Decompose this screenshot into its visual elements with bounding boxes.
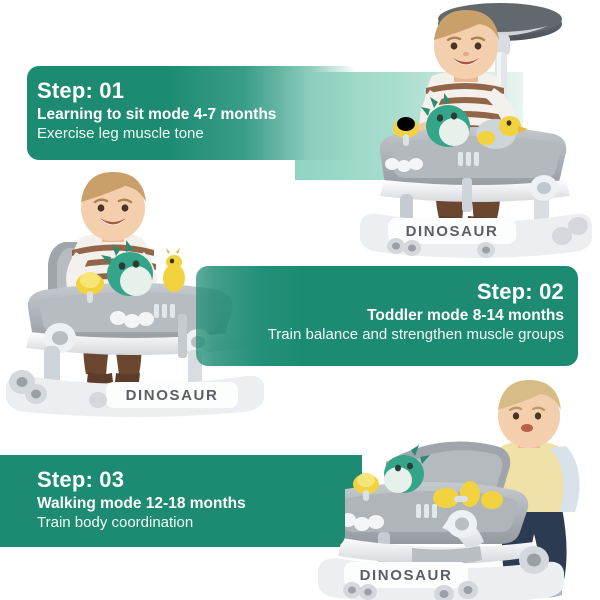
- product-image-walker-3: DINOSAUR: [326, 398, 600, 600]
- step-2-label: Step: 02: [196, 280, 564, 303]
- step-1-label: Step: 01: [37, 79, 357, 102]
- step-3-mode: Walking mode 12-18 months: [37, 494, 345, 513]
- step-3-desc: Train body coordination: [37, 514, 345, 533]
- step-2-desc: Train balance and strengthen muscle grou…: [196, 326, 564, 345]
- step-banner-2: Step: 02 Toddler mode 8-14 months Train …: [196, 266, 578, 366]
- step-2-mode: Toddler mode 8-14 months: [196, 306, 564, 325]
- svg-text:DINOSAUR: DINOSAUR: [406, 223, 499, 240]
- step-3-label: Step: 03: [37, 468, 345, 491]
- step-banner-3: Step: 03 Walking mode 12-18 months Train…: [27, 455, 345, 547]
- step-1-mode: Learning to sit mode 4-7 months: [37, 105, 357, 124]
- svg-text:DINOSAUR: DINOSAUR: [126, 387, 219, 404]
- giraffe-toy-2: [163, 248, 185, 292]
- walker-base-1: DINOSAUR: [360, 214, 592, 258]
- step-1-desc: Exercise leg muscle tone: [37, 125, 357, 144]
- step-banner-1: Step: 01 Learning to sit mode 4-7 months…: [27, 66, 357, 160]
- svg-text:DINOSAUR: DINOSAUR: [360, 567, 453, 584]
- product-image-walker-1: DINOSAUR: [366, 2, 600, 254]
- infographic-canvas: DINOSAUR: [0, 0, 600, 600]
